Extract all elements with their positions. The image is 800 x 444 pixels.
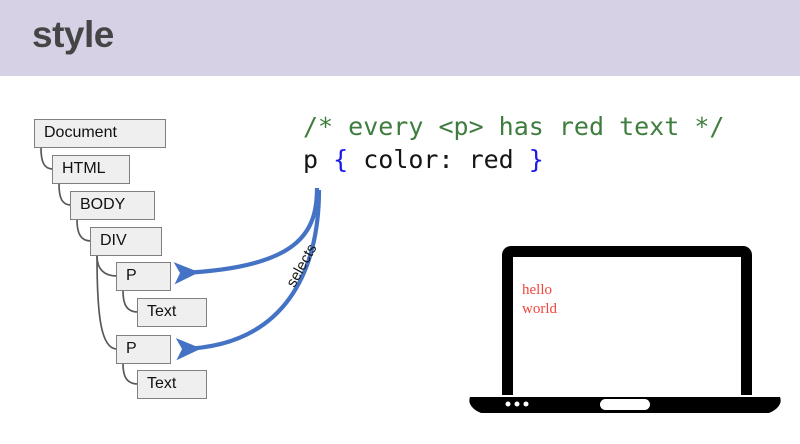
laptop-trackpad-notch — [600, 399, 650, 410]
connector-body-div — [77, 220, 91, 241]
tree-node-text-second[interactable]: Text — [137, 370, 207, 399]
laptop-indicator-dot — [515, 402, 520, 407]
page-title: style — [32, 14, 114, 56]
tree-node-text-first[interactable]: Text — [137, 298, 207, 327]
laptop-screen-text: hello world — [522, 281, 557, 319]
tree-node-document[interactable]: Document — [34, 119, 166, 148]
css-declaration: color: red — [348, 145, 529, 174]
connector-p1-text1 — [123, 291, 138, 312]
css-open-brace: { — [333, 145, 348, 174]
connector-div-p1 — [97, 256, 117, 276]
css-rule-snippet: /* every <p> has red text */ p { color: … — [303, 110, 724, 176]
tree-node-p-first[interactable]: P — [116, 262, 171, 291]
dom-tree-diagram: Document HTML BODY DIV P Text P Text — [0, 76, 300, 444]
laptop-illustration: hello world — [460, 243, 790, 418]
tree-node-html[interactable]: HTML — [52, 155, 130, 184]
laptop-screen — [513, 257, 741, 395]
laptop-svg — [460, 243, 790, 418]
tree-node-p-second[interactable]: P — [116, 335, 171, 364]
css-comment-line: /* every <p> has red text */ — [303, 112, 724, 141]
css-selector: p — [303, 145, 333, 174]
tree-node-body[interactable]: BODY — [70, 191, 155, 220]
laptop-indicator-dot — [524, 402, 529, 407]
slide-header-band — [0, 0, 800, 76]
connector-p2-text2 — [123, 364, 138, 384]
laptop-indicator-dot — [506, 402, 511, 407]
tree-node-div[interactable]: DIV — [90, 227, 162, 256]
css-close-brace: } — [529, 145, 544, 174]
